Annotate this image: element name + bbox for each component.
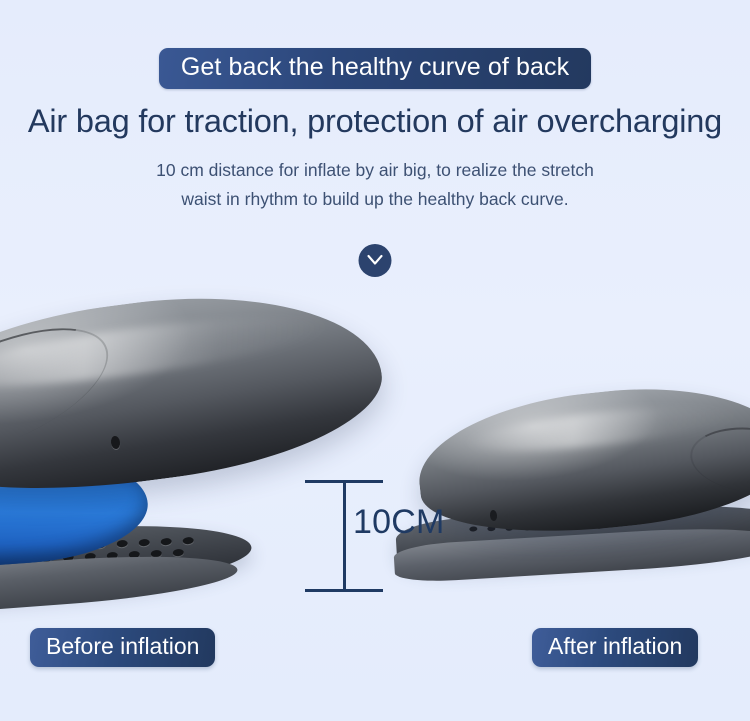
dimension-line	[343, 480, 346, 592]
caption-after-inflation: After inflation	[532, 628, 698, 667]
left-top-shell	[0, 272, 391, 514]
dimension-cap-bottom	[305, 589, 383, 592]
subcopy-line-2: waist in rhythm to build up the healthy …	[95, 185, 655, 213]
product-comparison-stage	[0, 296, 750, 626]
subcopy: 10 cm distance for inflate by air big, t…	[95, 156, 655, 213]
eyebrow-badge: Get back the healthy curve of back	[159, 48, 591, 89]
header-block: Get back the healthy curve of back Air b…	[0, 0, 750, 213]
subcopy-line-1: 10 cm distance for inflate by air big, t…	[95, 156, 655, 184]
page-title: Air bag for traction, protection of air …	[0, 103, 750, 140]
chevron-down-icon	[359, 244, 392, 277]
deflated-massager	[418, 392, 750, 602]
caption-before-inflation: Before inflation	[30, 628, 215, 667]
inflated-massager	[0, 296, 402, 606]
product-feature-banner: Get back the healthy curve of back Air b…	[0, 0, 750, 721]
dimension-label: 10CM	[353, 503, 445, 542]
